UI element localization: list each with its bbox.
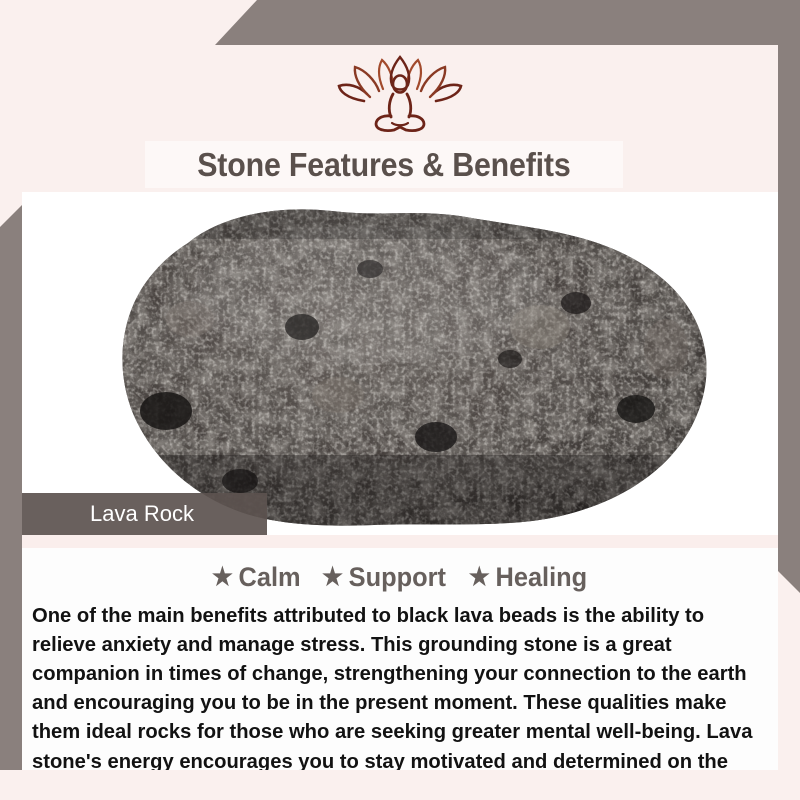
page-title-ribbon: Stone Features & Benefits: [145, 141, 623, 188]
benefits-panel: ★ Calm ★ Support ★ Healing One of the ma…: [22, 548, 778, 770]
page-title: Stone Features & Benefits: [197, 146, 570, 184]
star-icon: ★: [469, 565, 490, 590]
infographic-poster: BUDDHA STONES: [0, 0, 800, 800]
keyword-list: ★ Calm ★ Support ★ Healing: [22, 562, 778, 593]
keyword-item-healing: ★ Healing: [469, 562, 587, 593]
star-icon: ★: [322, 565, 343, 590]
frame-top-bar: [215, 0, 800, 45]
frame-right-bar: [778, 45, 800, 593]
lotus-meditation-logo-icon: [334, 53, 466, 139]
lava-rock-photo: [22, 192, 778, 535]
section-divider: [22, 535, 778, 548]
keyword-label: Support: [349, 562, 446, 593]
keyword-label: Calm: [238, 562, 300, 593]
keyword-label: Healing: [496, 562, 588, 593]
frame-bottom-bar: [0, 770, 760, 800]
lava-rock-image: [70, 199, 730, 529]
star-icon: ★: [212, 565, 233, 590]
frame-left-bar: [0, 205, 22, 770]
keyword-item-support: ★ Support: [322, 562, 446, 593]
keyword-item-calm: ★ Calm: [212, 562, 301, 593]
photo-caption-text: Lava Rock: [90, 501, 194, 527]
photo-caption-bar: Lava Rock: [22, 493, 267, 535]
